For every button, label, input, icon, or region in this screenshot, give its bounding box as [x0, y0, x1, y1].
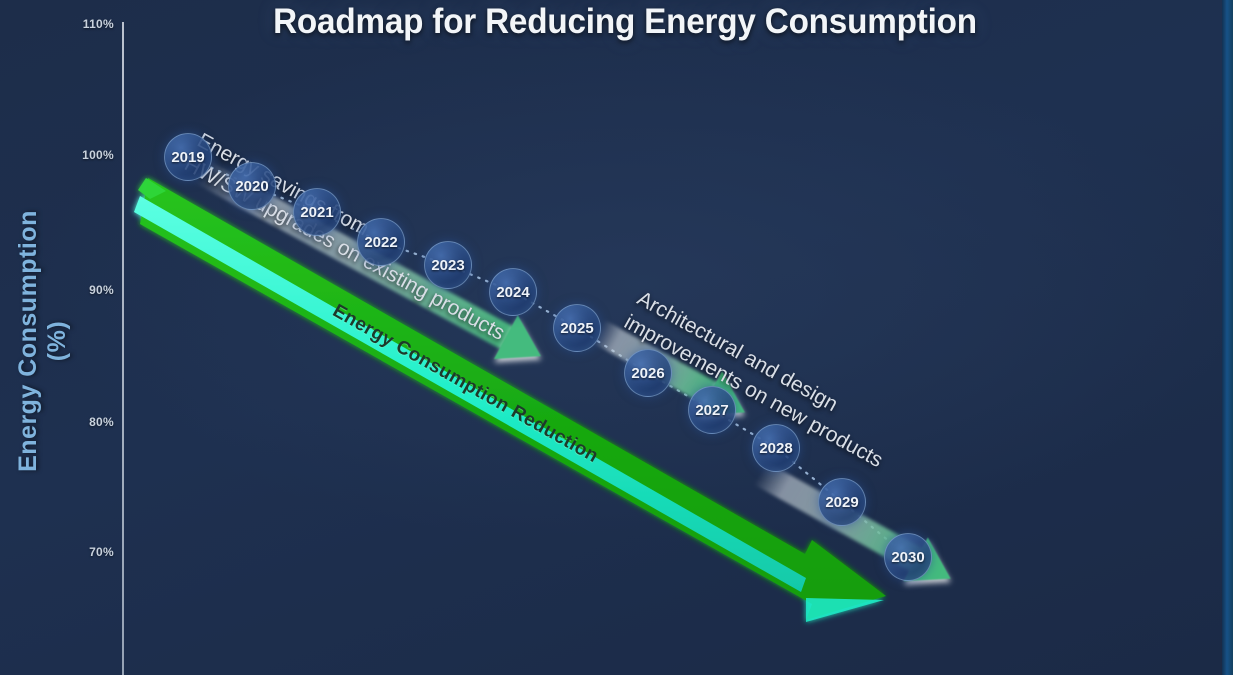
milestone-2025[interactable]: 2025	[553, 304, 601, 352]
milestone-2029[interactable]: 2029	[818, 478, 866, 526]
milestone-2024[interactable]: 2024	[489, 268, 537, 316]
slide-canvas: 110% 100% 90% 80% 70% Energy Consumption…	[0, 0, 1233, 675]
phase2-arrow-right	[748, 451, 1000, 621]
phase1-annotation-line1: Energy savings from	[192, 128, 522, 324]
right-edge-strip	[1222, 0, 1233, 675]
milestone-2020[interactable]: 2020	[228, 162, 276, 210]
milestone-2022[interactable]: 2022	[357, 218, 405, 266]
milestone-2019[interactable]: 2019	[164, 133, 212, 181]
milestone-2023[interactable]: 2023	[424, 241, 472, 289]
milestone-2027[interactable]: 2027	[688, 386, 736, 434]
milestone-2028[interactable]: 2028	[752, 424, 800, 472]
chart-plot-area: Energy Consumption Reduction Energy savi…	[0, 0, 1233, 675]
milestone-2030[interactable]: 2030	[884, 533, 932, 581]
milestone-2021[interactable]: 2021	[293, 188, 341, 236]
milestone-2026[interactable]: 2026	[624, 349, 672, 397]
